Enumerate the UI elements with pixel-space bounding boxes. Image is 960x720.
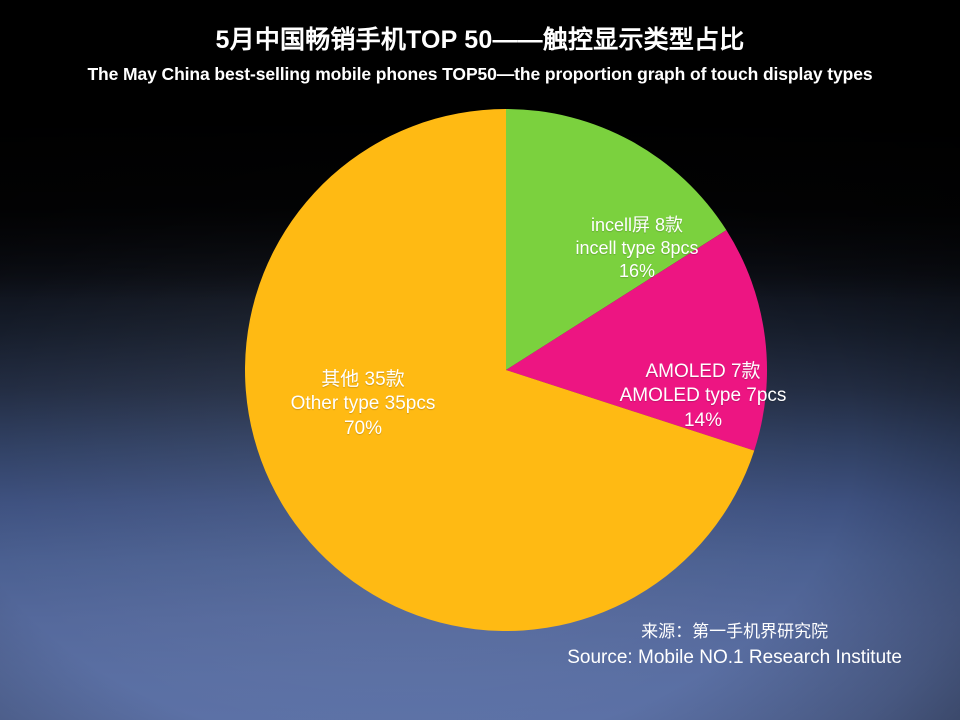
page-title-chinese: 5月中国畅销手机TOP 50——触控显示类型占比 bbox=[0, 0, 960, 55]
page-title-english: The May China best-selling mobile phones… bbox=[0, 55, 960, 85]
pie-label-amoled: AMOLED 7款 AMOLED type 7pcs 14% bbox=[568, 360, 838, 433]
source-attribution: 来源：第一手机界研究院 Source: Mobile NO.1 Research… bbox=[567, 620, 902, 672]
pie-label-amoled-percent: 14% bbox=[568, 409, 838, 433]
slide-canvas: 5月中国畅销手机TOP 50——触控显示类型占比 The May China b… bbox=[0, 0, 960, 720]
pie-label-amoled-line2: AMOLED type 7pcs bbox=[568, 384, 838, 408]
pie-label-incell-percent: 16% bbox=[512, 260, 762, 283]
pie-label-other-line1: 其他 35款 bbox=[218, 368, 508, 392]
pie-label-incell-line1: incell屏 8款 bbox=[512, 214, 762, 237]
pie-label-incell-line2: incell type 8pcs bbox=[512, 237, 762, 260]
slide-header: 5月中国畅销手机TOP 50——触控显示类型占比 The May China b… bbox=[0, 0, 960, 85]
source-line-chinese: 来源：第一手机界研究院 bbox=[567, 620, 902, 645]
pie-label-other-percent: 70% bbox=[218, 417, 508, 441]
pie-label-amoled-line1: AMOLED 7款 bbox=[568, 360, 838, 384]
pie-label-other: 其他 35款 Other type 35pcs 70% bbox=[218, 368, 508, 441]
source-line-english: Source: Mobile NO.1 Research Institute bbox=[567, 644, 902, 672]
pie-label-other-line2: Other type 35pcs bbox=[218, 392, 508, 416]
pie-label-incell: incell屏 8款 incell type 8pcs 16% bbox=[512, 214, 762, 283]
